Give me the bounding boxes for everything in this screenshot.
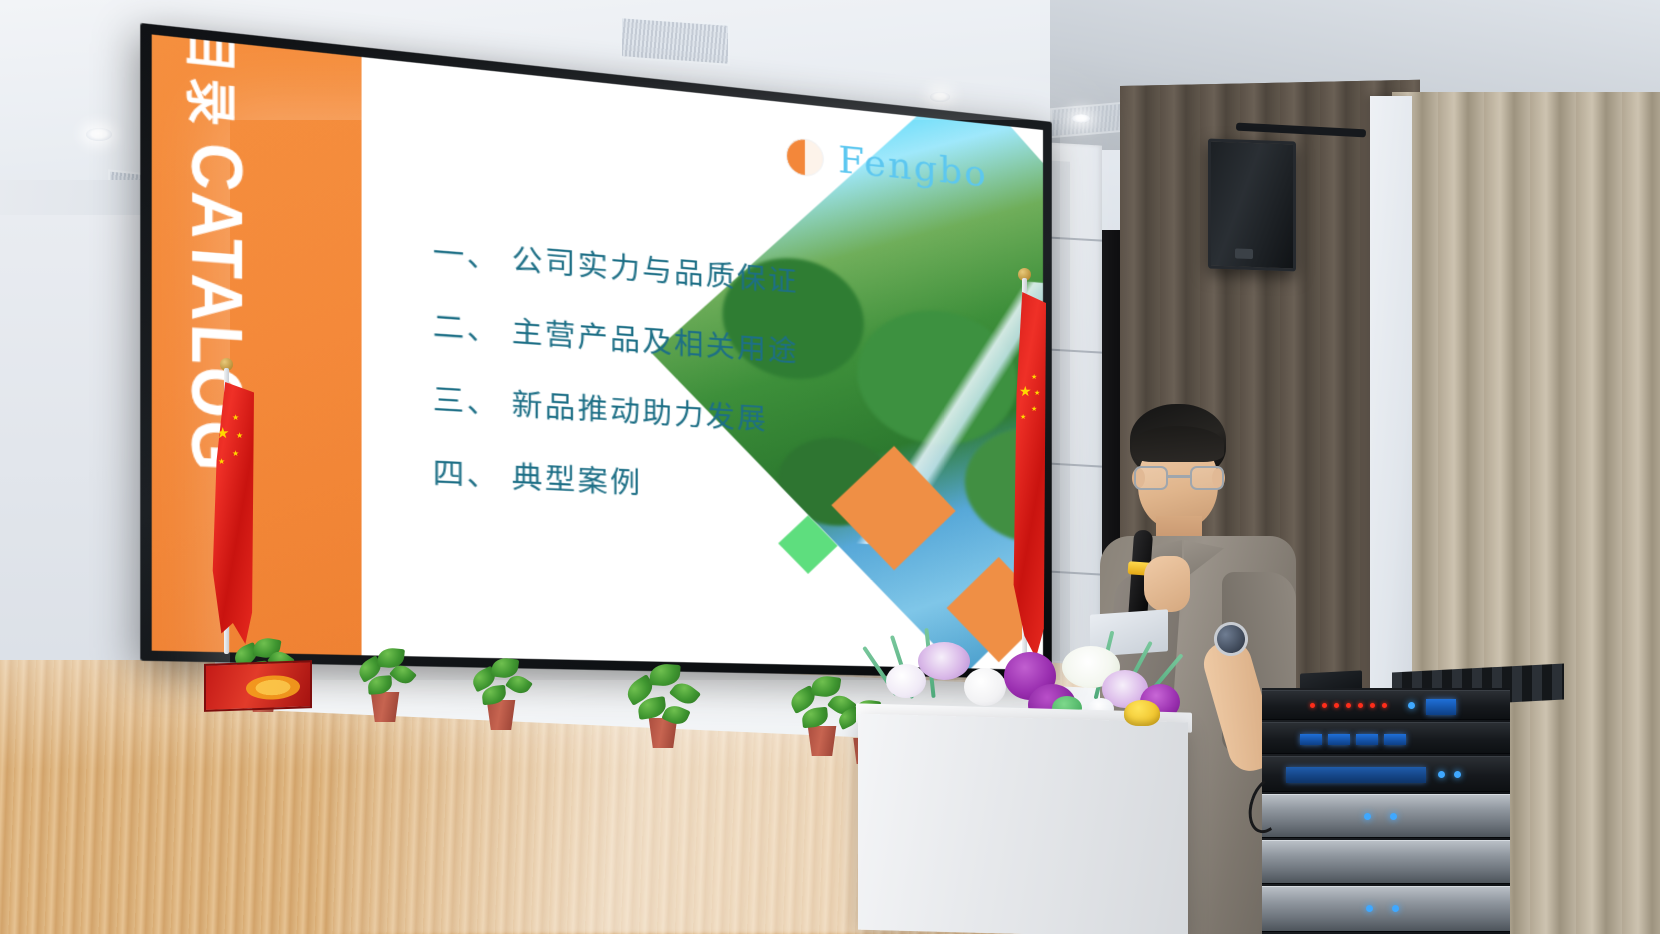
rack-led-red	[1310, 703, 1315, 708]
led-video-wall[interactable]: 目录 CATALOG Fengbo 一、	[152, 34, 1043, 670]
flag-star-right-2: ★	[1034, 390, 1040, 397]
potted-plant-4	[624, 664, 702, 748]
rack-led-blue	[1392, 905, 1399, 912]
flag-star-right-3: ★	[1031, 406, 1037, 413]
flag-star-right-1: ★	[1031, 374, 1037, 381]
toc-item-2-number: 二、	[433, 303, 500, 350]
flag-cloth-right: ★ ★ ★ ★ ★	[1010, 292, 1046, 658]
rack-segment-display-2	[1328, 734, 1350, 745]
downlight-4	[930, 92, 950, 102]
slide-toc-list: 一、 公司实力与品质保证 二、 主营产品及相关用途 三、 新品推动助力发展 四、…	[433, 229, 799, 509]
plant-leaf	[801, 707, 829, 729]
rack-unit-amplifier-3[interactable]	[1262, 886, 1510, 932]
rack-unit-amplifier-2[interactable]	[1262, 840, 1510, 884]
rack-led-blue	[1364, 813, 1371, 820]
plant-pot	[805, 726, 839, 756]
flag-star-right-4: ★	[1020, 414, 1026, 421]
toc-item-3-number: 三、	[433, 376, 500, 423]
china-flag-left: ★ ★ ★ ★ ★	[198, 358, 262, 658]
potted-plant-2	[352, 648, 418, 722]
toc-item-1-number: 一、	[433, 229, 500, 277]
conference-room-photo: 目录 CATALOG Fengbo 一、	[0, 0, 1660, 934]
plant-pot	[368, 692, 402, 722]
potted-plant-3	[468, 656, 534, 730]
rack-led-red	[1382, 703, 1387, 708]
toc-item-2: 二、 主营产品及相关用途	[433, 303, 799, 370]
toc-item-3-label: 新品推动助力发展	[512, 381, 768, 438]
rack-led-red	[1322, 703, 1327, 708]
eyeglass-lens-right	[1190, 466, 1224, 490]
toc-item-1-label: 公司实力与品质保证	[512, 236, 799, 300]
presenter-hand	[1144, 556, 1190, 612]
rack-segment-display-4	[1384, 734, 1406, 745]
presenter-hair-front	[1132, 426, 1224, 462]
rack-segment-display-3	[1356, 734, 1378, 745]
flag-cloth-left: ★ ★ ★ ★ ★	[206, 382, 254, 644]
rack-waveform-display	[1286, 767, 1426, 783]
flag-star-left-3: ★	[232, 450, 239, 458]
china-flag-right: ★ ★ ★ ★ ★	[1002, 268, 1062, 660]
rack-unit-audio-processor[interactable]	[1262, 756, 1510, 792]
slide-body: Fengbo 一、 公司实力与品质保证 二、 主营产品及相关用途 三、 新品推动…	[362, 57, 1043, 670]
rack-led-blue	[1408, 702, 1415, 709]
rack-led-blue	[1390, 813, 1397, 820]
rack-unit-amplifier-1[interactable]	[1262, 794, 1510, 838]
toc-item-4-label: 典型案例	[512, 454, 643, 502]
rack-lcd-display	[1426, 699, 1456, 715]
flag-star-big-right: ★	[1019, 384, 1032, 398]
rack-unit-power-sequencer[interactable]	[1262, 690, 1510, 720]
flag-star-big-left: ★	[216, 426, 229, 441]
toc-item-1: 一、 公司实力与品质保证	[433, 229, 799, 300]
downlight-1	[86, 128, 112, 141]
podium	[858, 714, 1188, 934]
rack-led-red	[1334, 703, 1339, 708]
rack-led-red	[1358, 703, 1363, 708]
toc-item-4: 四、 典型案例	[433, 450, 799, 509]
flag-star-left-1: ★	[232, 414, 239, 422]
downlight-5	[1072, 114, 1090, 123]
audio-equipment-rack[interactable]	[1262, 688, 1510, 934]
presenter-eyeglasses	[1134, 466, 1224, 490]
rack-led-blue	[1366, 905, 1373, 912]
wall-speaker-right	[1208, 138, 1296, 271]
ceiling-vent-1	[620, 16, 730, 66]
rack-red-box	[204, 660, 312, 712]
flag-star-left-2: ★	[236, 432, 243, 440]
rack-led-red	[1370, 703, 1375, 708]
eyeglass-bridge	[1168, 475, 1190, 478]
slide-title-cn: 目录	[176, 34, 252, 134]
rack-led-blue	[1438, 771, 1445, 778]
flag-star-left-4: ★	[218, 458, 225, 466]
flower-lily-purple	[918, 642, 970, 680]
rack-led-red	[1346, 703, 1351, 708]
flower-rose-white	[964, 668, 1006, 706]
rack-segment-display-1	[1300, 734, 1322, 745]
toc-item-4-number: 四、	[433, 450, 500, 496]
microphone-holder[interactable]	[1124, 700, 1160, 726]
rack-led-blue	[1454, 771, 1461, 778]
toc-item-3: 三、 新品推动助力发展	[433, 376, 799, 439]
fengbo-logo-icon	[786, 136, 824, 177]
presentation-slide: 目录 CATALOG Fengbo 一、	[152, 34, 1043, 670]
rack-unit-digital-processor[interactable]	[1262, 722, 1510, 754]
toc-item-2-label: 主营产品及相关用途	[512, 308, 799, 369]
eyeglass-lens-left	[1134, 466, 1168, 490]
